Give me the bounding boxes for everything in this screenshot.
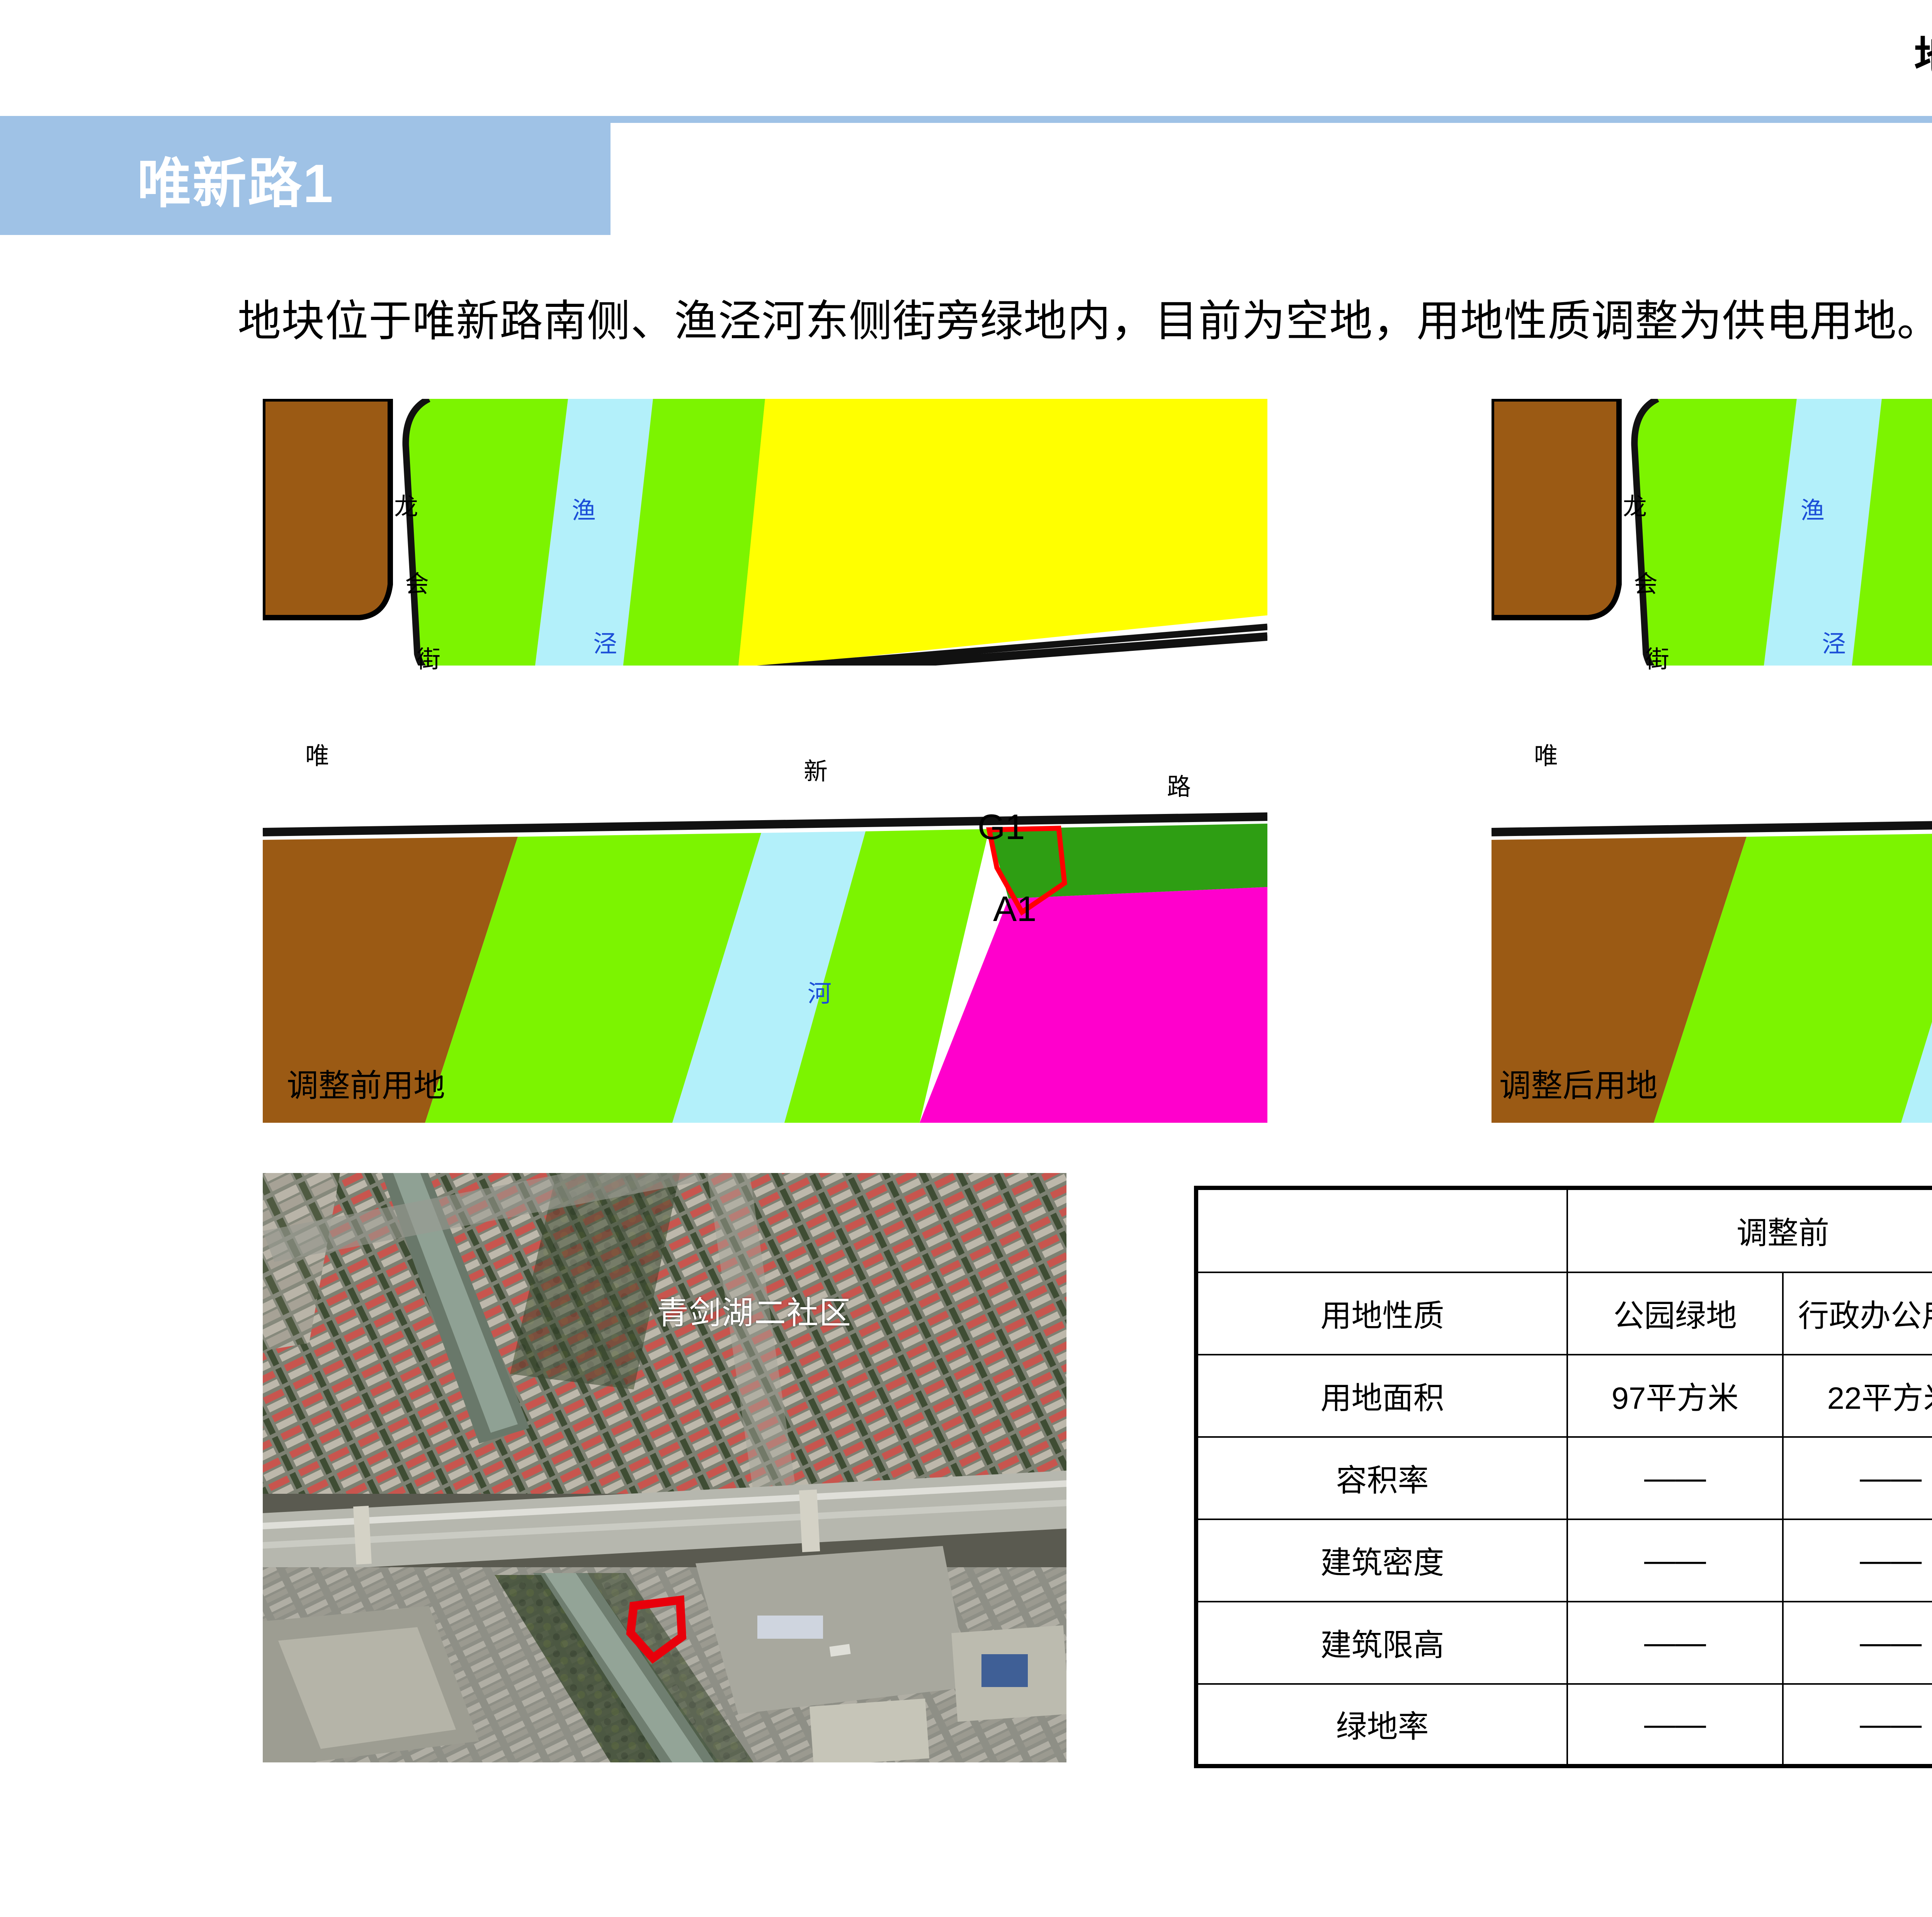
map-before-bottom-svg — [263, 810, 1267, 1123]
title-banner-label: 唯新路1 — [137, 140, 334, 218]
table-row: 用地性质 公园绿地 行政办公用地 供电用地 — [1196, 1272, 1932, 1355]
header-rule-divider — [0, 116, 1932, 123]
slide-header-title: 地块9：唯新路、城北路相关开闭所地块 — [1914, 23, 1932, 83]
table-header-corner — [1196, 1188, 1568, 1272]
table-row: 绿地率 —— —— —— — [1196, 1684, 1932, 1766]
row-label-land-nature: 用地性质 — [1196, 1272, 1568, 1355]
cell-before-b-land-area: 22平方米 — [1783, 1355, 1932, 1437]
row-label-height-limit: 建筑限高 — [1196, 1602, 1568, 1684]
map-before-roadlabel-2: 新 — [804, 752, 828, 787]
body-paragraph: 地块位于唯新路南侧、渔泾河东侧街旁绿地内，目前为空地，用地性质调整为供电用地。 — [238, 286, 1932, 349]
cell-before-a-far: —— — [1567, 1437, 1783, 1519]
map-before-roadlabel-3: 路 — [1167, 767, 1191, 802]
table-row: 建筑限高 —— —— 12米 — [1196, 1602, 1932, 1684]
cell-before-b-building-density: —— — [1783, 1519, 1932, 1602]
satellite-photo-caption: 青剑湖二社区 — [657, 1287, 852, 1333]
map-after-top — [1492, 399, 1932, 666]
cell-before-a-building-density: —— — [1567, 1519, 1783, 1602]
cell-before-b-far: —— — [1783, 1437, 1932, 1519]
table-row: 建筑密度 —— —— —— — [1196, 1519, 1932, 1602]
cell-before-b-height-limit: —— — [1783, 1602, 1932, 1684]
map-after-bottom-svg — [1492, 810, 1932, 1123]
satellite-photo — [263, 1173, 1066, 1762]
row-label-green-ratio: 绿地率 — [1196, 1684, 1568, 1766]
cell-before-b-green-ratio: —— — [1783, 1684, 1932, 1766]
cell-before-b-land-nature: 行政办公用地 — [1783, 1272, 1932, 1355]
map-after-top-svg — [1492, 399, 1932, 666]
map-before-bottom — [263, 810, 1267, 1123]
land-use-comparison-table: 调整前 调整后 用地性质 公园绿地 行政办公用地 供电用地 用地面积 97平方米… — [1194, 1186, 1932, 1768]
table-header-before: 调整前 — [1567, 1188, 1932, 1272]
row-label-building-density: 建筑密度 — [1196, 1519, 1568, 1602]
cell-before-a-green-ratio: —— — [1567, 1684, 1783, 1766]
map-after-roadlabel-1: 唯 — [1534, 736, 1558, 771]
table-header-row: 调整前 调整后 — [1196, 1188, 1932, 1272]
satellite-photo-svg — [263, 1173, 1066, 1762]
row-label-far: 容积率 — [1196, 1437, 1568, 1519]
cell-before-a-land-area: 97平方米 — [1567, 1355, 1783, 1437]
cell-before-a-land-nature: 公园绿地 — [1567, 1272, 1783, 1355]
map-before-top-svg — [263, 399, 1267, 666]
row-label-land-area: 用地面积 — [1196, 1355, 1568, 1437]
title-banner: 唯新路1 — [0, 123, 611, 235]
table-row: 用地面积 97平方米 22平方米 119平方米 — [1196, 1355, 1932, 1437]
map-before-roadlabel-1: 唯 — [305, 736, 329, 771]
table-row: 容积率 —— —— 0.5 — [1196, 1437, 1932, 1519]
cell-before-a-height-limit: —— — [1567, 1602, 1783, 1684]
map-before-top — [263, 399, 1267, 666]
map-after-bottom — [1492, 810, 1932, 1123]
